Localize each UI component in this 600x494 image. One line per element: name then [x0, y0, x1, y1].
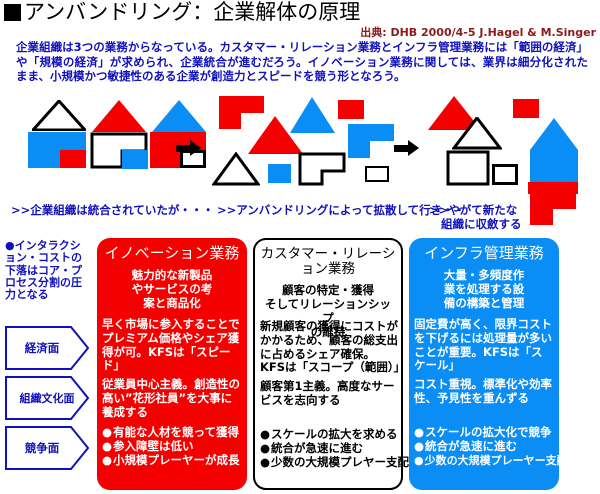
bullet-list-infrastructure: スケールの拡大化で競争 統合が急速に進む 少数の大規模プレーヤー支配 — [414, 426, 554, 467]
black-square-bullet-icon — [4, 4, 21, 21]
left-note: ●インタラクション・コストの下落はコア・プロセス分割の圧力となる — [5, 240, 91, 302]
list-item: 参入障壁は低い — [102, 440, 242, 454]
scatter-square-red — [338, 100, 364, 119]
final-block-blue — [530, 150, 558, 182]
triangle-blue-filled — [152, 100, 206, 132]
list-item: 小規模プレーヤーが成長 — [102, 454, 242, 468]
cell-innovation-economics: 早く市場に参入することでプレミアム価格やシェア獲得が可。KFSは「スピード」 — [97, 318, 247, 373]
scatter-triangle-white-outline — [212, 152, 260, 186]
right-arrow-icon-1 — [176, 140, 201, 156]
list-item: 少数の大規模プレヤー支配 — [260, 456, 400, 470]
right-arrow-icon-2 — [394, 140, 419, 156]
final-square-white-outline — [492, 164, 518, 185]
cell-customer-relation-competition: スケールの拡大を求める 統合が急速に進む 少数の大規模プレヤー支配 — [255, 428, 405, 469]
bullet-list-innovation: 有能な人材を競って獲得 参入障壁は低い 小規模プレーヤーが成長 — [102, 426, 242, 467]
list-item: 統合が急速に進む — [414, 440, 554, 454]
cell-innovation-culture: 従業員中心主義。創造性の高い”花形社員”を大事に養成する — [97, 378, 247, 419]
row-label-culture: 組織文化面 — [5, 376, 89, 420]
scatter-square-blue — [268, 164, 291, 183]
row-label-competition-text: 競争面 — [5, 426, 79, 470]
triangle-red-filled — [92, 100, 146, 132]
row-label-economics-text: 経済面 — [5, 326, 79, 370]
intro-paragraph: 企業組織は3つの業務からなっている。カスタマー・リレーション業務とインフラ管理業… — [16, 40, 588, 84]
square-blue-inset — [122, 150, 148, 169]
scatter-l-white-outline — [298, 152, 346, 186]
cell-infrastructure-economics: 固定費が高く、限界コストを下げるには処理量が多いことが重要。KFSは「スケール」 — [409, 318, 559, 373]
page-title-text: アンバンドリング：企業解体の原理 — [24, 2, 360, 23]
final-triangle-white-outline — [452, 117, 502, 150]
flow-caption-1: >>企業組織は統合されていたが・・・ — [11, 202, 214, 218]
scatter-l-blue — [348, 124, 394, 158]
flow-caption-4: 組織に収斂する — [441, 216, 522, 232]
list-item: スケールの拡大を求める — [260, 428, 400, 442]
cell-infrastructure-culture: コスト重視。標準化や効率性、予見性を重んずる — [409, 378, 559, 406]
square-blue-large — [28, 132, 60, 168]
square-blue-arm — [60, 132, 86, 150]
bullet-list-customer-relation: スケールの拡大を求める 統合が急速に進む 少数の大規模プレヤー支配 — [260, 428, 400, 469]
flow-caption-2: >>アンバンドリングによって拡散して行き・・ — [217, 202, 465, 218]
final-square-red — [513, 99, 539, 118]
column-infrastructure[interactable]: インフラ管理業務 大量・多頻度作 業を処理する設 備の構築と管理 固定費が高く、… — [409, 238, 559, 490]
cell-innovation-competition: 有能な人材を競って獲得 参入障壁は低い 小規模プレーヤーが成長 — [97, 426, 247, 467]
shape-diagram — [0, 92, 600, 196]
square-red-small — [60, 150, 86, 168]
column-infrastructure-title: インフラ管理業務 — [409, 238, 559, 262]
list-item: 少数の大規模プレーヤー支配 — [414, 454, 554, 467]
cell-customer-relation-economics: 新規顧客の獲得にコストがかかるため、顧客の総支出に占めるシェア確保。KFSは「ス… — [255, 320, 405, 375]
column-customer-relation-title: カスタマー・リレーション業務 — [255, 240, 401, 277]
flow-caption-band: >>企業組織は統合されていたが・・・ >>アンバンドリングによって拡散して行き・… — [0, 198, 600, 232]
triangle-white-outline — [32, 100, 86, 131]
final-block-blue-arm — [558, 150, 578, 166]
scatter-triangle-red — [248, 116, 303, 154]
column-innovation-title: イノベーション業務 — [97, 238, 247, 262]
final-triangle-blue — [530, 118, 578, 150]
column-customer-relation[interactable]: カスタマー・リレーション業務 顧客の特定・獲得 そしてリレーションシップ の維持… — [253, 238, 403, 490]
list-item: 有能な人材を競って獲得 — [102, 426, 242, 440]
final-l-white-outline — [446, 150, 490, 186]
scatter-square-white-outline — [365, 166, 389, 182]
list-item: 統合が急速に進む — [260, 442, 400, 456]
cell-customer-relation-culture: 顧客第1主義。高度なサービスを志向する — [255, 380, 405, 408]
cell-infrastructure-competition: スケールの拡大化で競争 統合が急速に進む 少数の大規模プレーヤー支配 — [409, 426, 559, 467]
row-label-culture-text: 組織文化面 — [5, 376, 89, 420]
page-title: アンバンドリング：企業解体の原理 — [4, 2, 360, 23]
final-block-blue-arm2 — [558, 166, 578, 182]
row-label-competition: 競争面 — [5, 426, 89, 470]
citation-source: 出典: DHB 2000/4-5 J.Hagel & M.Singer — [360, 24, 596, 40]
slide-page: アンバンドリング：企業解体の原理 出典: DHB 2000/4-5 J.Hage… — [0, 0, 600, 494]
column-innovation-subtitle: 魅力的な新製品 やサービスの考 案と商品化 — [97, 262, 247, 310]
list-item: スケールの拡大化で競争 — [414, 426, 554, 440]
flow-l-shape-red — [530, 192, 576, 225]
row-label-economics: 経済面 — [5, 326, 89, 370]
column-infrastructure-subtitle: 大量・多頻度作 業を処理する設 備の構築と管理 — [409, 262, 559, 310]
column-innovation[interactable]: イノベーション業務 魅力的な新製品 やサービスの考 案と商品化 早く市場に参入す… — [97, 238, 247, 490]
